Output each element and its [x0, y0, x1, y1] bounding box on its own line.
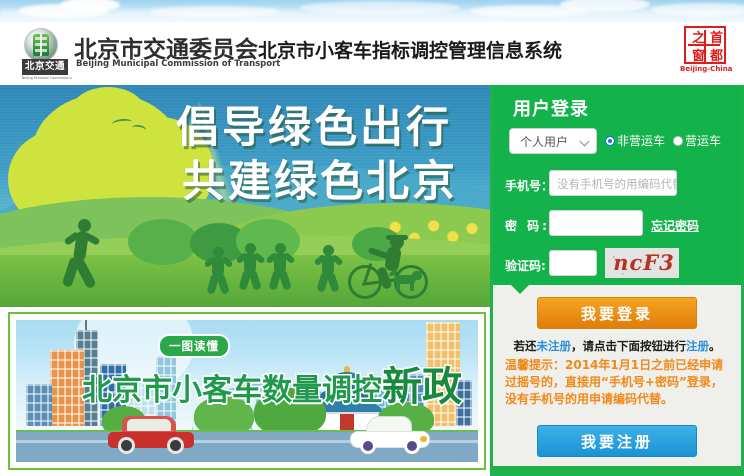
password-row: 密 码: 忘记密码 — [493, 210, 741, 238]
eco-banner-line-1: 倡导绿色出行 — [176, 101, 476, 155]
organization-logo[interactable]: 北京交通 Beijing Municipal Commission of Tra… — [22, 28, 262, 80]
radio-operating-icon[interactable] — [673, 136, 683, 146]
captcha-image-text: ncF3 — [611, 250, 677, 276]
child-silhouette — [268, 243, 294, 289]
policy-banner-title: 北京市小客车数量调控新政 — [82, 354, 462, 412]
red-car-illustration — [108, 416, 194, 454]
user-type-selected-value: 个人用户 — [520, 135, 568, 149]
login-button[interactable]: 我要登录 — [537, 297, 697, 329]
policy-title-main: 北京市小客车数量调控 — [82, 373, 382, 408]
notice-link-unregistered[interactable]: 未注册 — [537, 339, 572, 353]
white-car-illustration — [350, 416, 430, 454]
captcha-input[interactable] — [549, 250, 597, 276]
panel-notch-shape — [511, 285, 529, 294]
login-panel-title: 用户登录 — [513, 95, 589, 121]
bush-shape — [128, 219, 198, 265]
child-silhouette — [316, 245, 342, 291]
runner-silhouette — [62, 219, 102, 291]
vehicle-type-radio-group: 非营运车营运车 — [605, 132, 721, 149]
sky-banner-image — [0, 0, 744, 22]
beijing-china-seal[interactable]: 之 首 窗 都 Beijing-China — [680, 26, 730, 78]
radio-operating[interactable]: 营运车 — [673, 134, 721, 148]
notice-suffix: 。 — [709, 339, 721, 353]
policy-title-emphasis: 新政 — [382, 364, 462, 410]
site-header: 北京交通 Beijing Municipal Commission of Tra… — [0, 22, 744, 84]
eco-banner-image[interactable]: 倡导绿色出行 共建绿色北京 — [0, 85, 490, 307]
user-type-select[interactable]: 个人用户 — [509, 128, 597, 154]
captcha-image[interactable]: ncF3 — [605, 248, 679, 278]
seal-char-4: 都 — [708, 48, 725, 65]
logo-badge-label: 北京交通 — [22, 59, 68, 75]
child-silhouette — [206, 247, 232, 293]
system-title: 北京市小客车指标调控管理信息系统 — [258, 36, 562, 63]
login-panel: 用户登录 个人用户 非营运车营运车 手机号： 没有手机号的用编码代替 密 码: … — [490, 85, 744, 476]
seal-label-en: Beijing-China — [680, 65, 730, 73]
organization-name-en: Beijing Municipal Commission of Transpor… — [76, 59, 280, 69]
child-silhouette — [238, 243, 264, 289]
seal-border: 之 首 窗 都 — [684, 26, 726, 64]
captcha-row: 验证码: ncF3 — [493, 250, 741, 278]
policy-banner-image[interactable]: 一图读懂 北京市小客车数量调控新政 — [8, 312, 486, 470]
emblem-leaf-icon — [33, 34, 49, 56]
seal-char-2: 首 — [708, 30, 725, 47]
phone-row: 手机号： 没有手机号的用编码代替 — [493, 170, 741, 198]
forgot-password-link[interactable]: 忘记密码 — [651, 217, 699, 234]
captcha-label: 验证码: — [505, 257, 546, 274]
register-notice: 若还未注册，请点击下面按钮进行注册。 — [501, 338, 733, 354]
notice-link-register[interactable]: 注册 — [686, 339, 709, 353]
dog-silhouette — [392, 271, 422, 291]
radio-non-operating[interactable]: 非营运车 — [605, 134, 665, 148]
eco-banner-text: 倡导绿色出行 共建绿色北京 — [176, 101, 476, 209]
cloud-shape — [0, 9, 744, 21]
eco-banner-line-2: 共建绿色北京 — [182, 155, 476, 209]
building-shape — [50, 350, 84, 426]
radio-operating-label: 营运车 — [685, 134, 721, 148]
phone-label: 手机号： — [505, 177, 553, 194]
grass-shape — [0, 291, 490, 307]
phone-input[interactable]: 没有手机号的用编码代替 — [549, 170, 677, 196]
seal-char-1: 之 — [690, 30, 707, 47]
register-button[interactable]: 我要注册 — [537, 425, 697, 457]
policy-banner-inner: 一图读懂 北京市小客车数量调控新政 — [16, 320, 478, 462]
password-input[interactable] — [549, 210, 643, 236]
antenna-shape — [85, 320, 87, 330]
building-shape — [26, 384, 52, 426]
login-form-area: 用户登录 个人用户 非营运车营运车 手机号： 没有手机号的用编码代替 密 码: … — [493, 85, 741, 285]
logo-badge-sublabel: Beijing Municipal Commission of Transpor… — [22, 75, 72, 81]
radio-non-operating-label: 非营运车 — [617, 134, 665, 148]
password-label: 密 码: — [505, 217, 550, 234]
notice-prefix: 若还 — [514, 339, 537, 353]
chevron-down-icon — [580, 137, 590, 147]
seal-char-3: 窗 — [690, 48, 707, 65]
user-type-row: 个人用户 非营运车营运车 — [493, 128, 741, 156]
warm-tip-text: 温馨提示：2014年1月1日之前已经申请过摇号的，直接用“手机号+密码”登录，没… — [505, 357, 731, 408]
page-root: 北京交通 Beijing Municipal Commission of Tra… — [0, 0, 744, 476]
notice-middle: ，请点击下面按钮进行 — [571, 339, 686, 353]
panel-footer-bar — [493, 466, 741, 473]
radio-non-operating-icon[interactable] — [605, 136, 615, 146]
